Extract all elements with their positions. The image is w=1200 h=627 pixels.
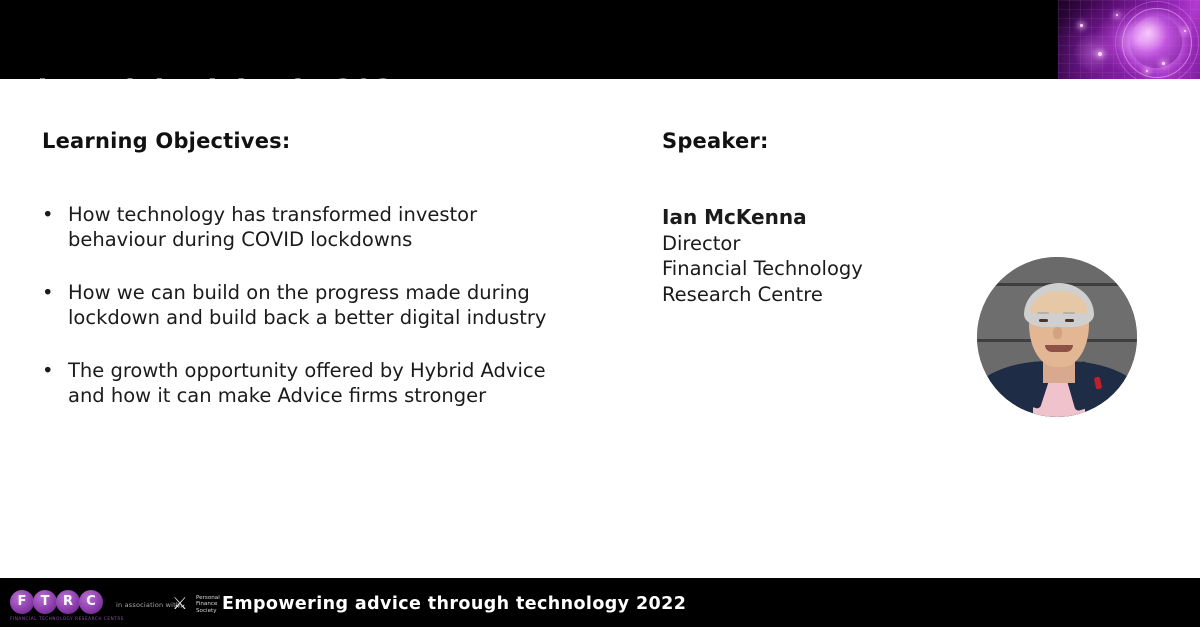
ftrc-logo: F T R C — [10, 590, 106, 616]
speaker-details: Ian McKenna Director Financial Technolog… — [662, 205, 952, 307]
learning-objectives-list: • How technology has transformed investo… — [42, 202, 572, 436]
photo-eye-left — [1039, 319, 1048, 322]
speaker-organisation-line-2: Research Centre — [662, 282, 952, 308]
ftrc-logo-letter-c: C — [79, 590, 103, 614]
slide-header: Financial Advice in 2025, what do you ne… — [0, 0, 1200, 79]
ftrc-logo-letter-r: R — [56, 590, 80, 614]
speaker-headshot-ian-mckenna — [977, 257, 1137, 417]
speaker-role: Director — [662, 231, 952, 257]
ftrc-logo-letter-f: F — [10, 590, 34, 614]
list-item-label: How we can build on the progress made du… — [68, 281, 546, 329]
photo-mouth — [1045, 345, 1073, 352]
photo-eyebrow-right — [1063, 312, 1075, 314]
graphic-spark — [1146, 70, 1148, 72]
speaker-name: Ian McKenna — [662, 205, 952, 231]
personal-finance-society-crest-icon: ⚔ — [170, 592, 192, 616]
ftrc-logo-tagline: FINANCIAL TECHNOLOGY RESEARCH CENTRE — [10, 616, 120, 621]
list-item-label: The growth opportunity offered by Hybrid… — [68, 359, 546, 407]
photo-nose — [1053, 327, 1062, 339]
graphic-spark — [1098, 52, 1102, 56]
pfs-name-line-1: Personal — [196, 595, 220, 601]
purple-technology-globe-graphic — [1058, 0, 1200, 79]
list-item: • The growth opportunity offered by Hybr… — [42, 358, 572, 408]
pfs-name-line-2: Finance — [196, 601, 217, 607]
speaker-organisation-line-1: Financial Technology — [662, 256, 952, 282]
graphic-spark — [1116, 14, 1118, 16]
photo-eyebrow-left — [1037, 312, 1049, 314]
ftrc-logo-letter-t: T — [33, 590, 57, 614]
graphic-spark — [1162, 62, 1165, 65]
bullet-icon: • — [42, 280, 54, 305]
footer-tagline: Empowering advice through technology 202… — [222, 594, 686, 614]
graphic-spark — [1080, 24, 1083, 27]
crest-glyph: ⚔ — [170, 592, 190, 616]
list-item: • How we can build on the progress made … — [42, 280, 572, 330]
bullet-icon: • — [42, 202, 54, 227]
graphic-globe — [1130, 16, 1182, 68]
page-title: Financial Advice in 2025, what do you ne… — [18, 3, 616, 79]
list-item: • How technology has transformed investo… — [42, 202, 572, 252]
pfs-name-line-3: Society — [196, 608, 217, 614]
bullet-icon: • — [42, 358, 54, 383]
graphic-spark — [1184, 30, 1186, 32]
photo-eye-right — [1065, 319, 1074, 322]
speaker-heading: Speaker: — [662, 129, 769, 153]
slide-body: Learning Objectives: • How technology ha… — [0, 79, 1200, 578]
learning-objectives-heading: Learning Objectives: — [42, 129, 290, 153]
list-item-label: How technology has transformed investor … — [68, 203, 477, 251]
